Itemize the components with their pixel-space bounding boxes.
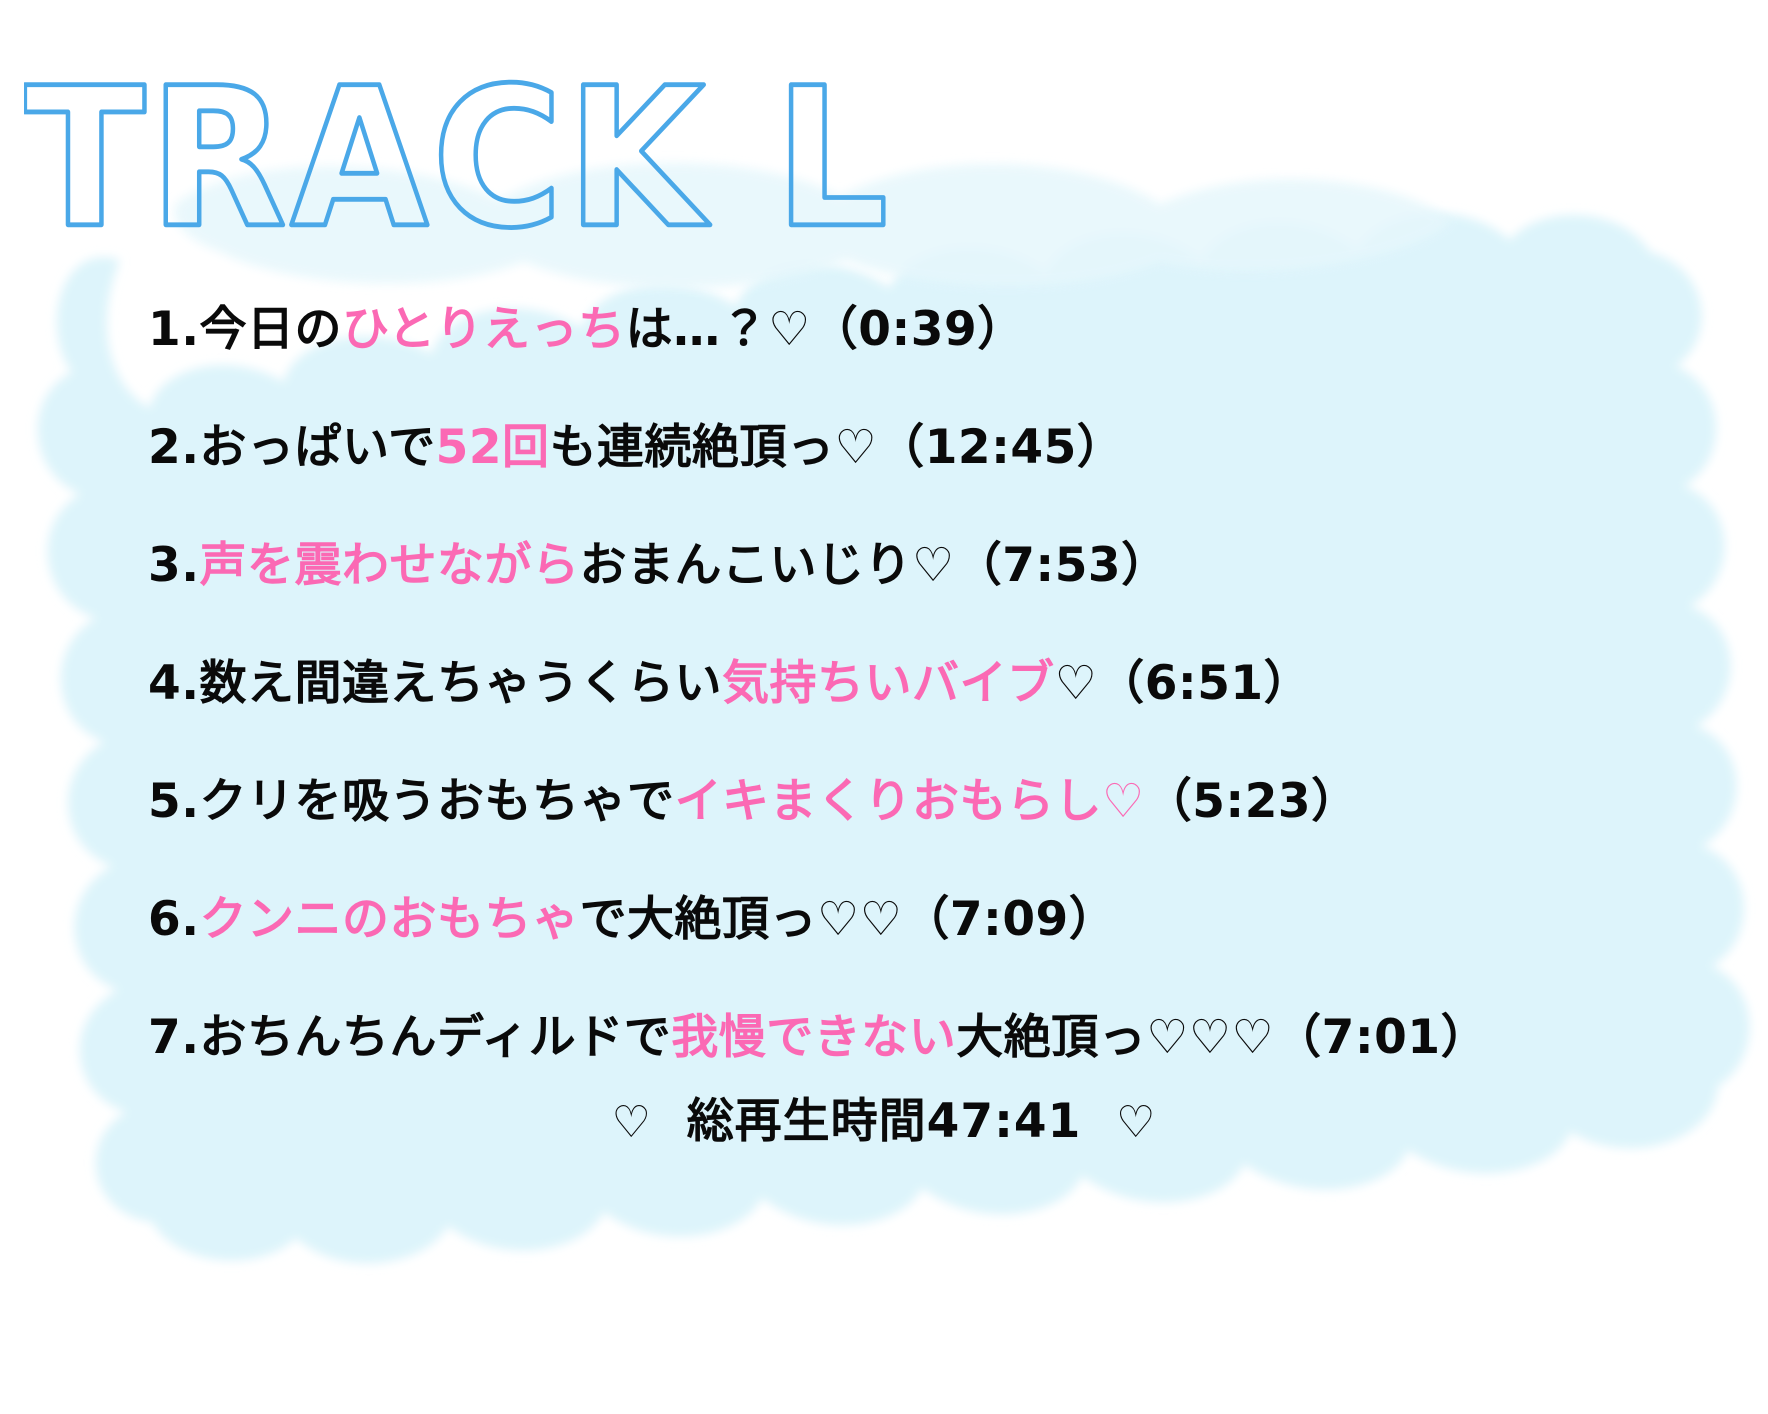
track-row: 4.数え間違えちゃうくらい気持ちいバイブ♡（6:51） xyxy=(0,624,1768,742)
track-text: 4.数え間違えちゃうくらい気持ちいバイブ♡（6:51） xyxy=(148,660,1311,707)
total-playtime-text: ♡ 総再生時間47:41 ♡ xyxy=(612,1094,1157,1149)
track-segment-highlight: イキまくりおもらし♡ xyxy=(675,774,1145,829)
track-row: 3.声を震わせながらおまんこいじり♡（7:53） xyxy=(0,506,1768,624)
page-title: TRACK LIST xyxy=(24,52,904,252)
track-segment: 4.数え間違えちゃうくらい xyxy=(148,656,722,711)
track-segment: 2.おっぱいで xyxy=(148,420,436,475)
track-text: 5.クリを吸うおもちゃでイキまくりおもらし♡（5:23） xyxy=(148,778,1359,825)
track-list: 1.今日のひとりえっちは…？♡（0:39） 2.おっぱいで52回も連続絶頂っ♡（… xyxy=(0,270,1768,1096)
track-row: 1.今日のひとりえっちは…？♡（0:39） xyxy=(0,270,1768,388)
track-segment: おまんこいじり♡（7:53） xyxy=(580,538,1169,593)
track-segment: も連続絶頂っ♡（12:45） xyxy=(550,420,1125,475)
track-segment-highlight: クンニのおもちゃ xyxy=(200,892,580,947)
track-segment: （5:23） xyxy=(1145,774,1359,829)
track-segment: 5.クリを吸うおもちゃで xyxy=(148,774,675,829)
track-segment-highlight: 我慢できない xyxy=(671,1010,956,1065)
total-playtime: ♡ 総再生時間47:41 ♡ xyxy=(0,1082,1768,1151)
page-title-text: TRACK LIST xyxy=(24,52,904,252)
total-playtime-label: 総再生時間47:41 xyxy=(687,1094,1082,1149)
track-row: 6.クンニのおもちゃで大絶頂っ♡♡（7:09） xyxy=(0,860,1768,978)
track-row: 2.おっぱいで52回も連続絶頂っ♡（12:45） xyxy=(0,388,1768,506)
track-text: 1.今日のひとりえっちは…？♡（0:39） xyxy=(148,306,1025,353)
track-text: 2.おっぱいで52回も連続絶頂っ♡（12:45） xyxy=(148,424,1124,471)
track-text: 7.おちんちんディルドで我慢できない大絶頂っ♡♡♡（7:01） xyxy=(148,1014,1488,1061)
track-row: 7.おちんちんディルドで我慢できない大絶頂っ♡♡♡（7:01） xyxy=(0,978,1768,1096)
track-segment-highlight: ひとりえっち xyxy=(342,302,626,357)
track-segment: 3. xyxy=(148,538,200,593)
page-title-graphic: TRACK LIST xyxy=(24,52,904,252)
heart-icon: ♡ xyxy=(612,1097,652,1148)
track-segment: 6. xyxy=(148,892,200,947)
track-segment: 1.今日の xyxy=(148,302,342,357)
track-segment: ♡（6:51） xyxy=(1055,656,1312,711)
track-list-page: TRACK LIST 1.今日のひとりえっちは…？♡（0:39） 2.おっぱいで… xyxy=(0,0,1768,1414)
track-segment: 7.おちんちんディルドで xyxy=(148,1010,671,1065)
track-segment-highlight: 52回 xyxy=(436,420,550,475)
track-text: 6.クンニのおもちゃで大絶頂っ♡♡（7:09） xyxy=(148,896,1116,943)
track-segment: 大絶頂っ♡♡♡（7:01） xyxy=(956,1010,1488,1065)
track-segment: で大絶頂っ♡♡（7:09） xyxy=(580,892,1117,947)
track-row: 5.クリを吸うおもちゃでイキまくりおもらし♡（5:23） xyxy=(0,742,1768,860)
track-text: 3.声を震わせながらおまんこいじり♡（7:53） xyxy=(148,542,1169,589)
track-segment-highlight: 声を震わせながら xyxy=(200,538,580,593)
heart-icon: ♡ xyxy=(1116,1097,1156,1148)
track-segment-highlight: 気持ちいバイブ xyxy=(722,656,1055,711)
track-segment: は…？♡（0:39） xyxy=(626,302,1025,357)
